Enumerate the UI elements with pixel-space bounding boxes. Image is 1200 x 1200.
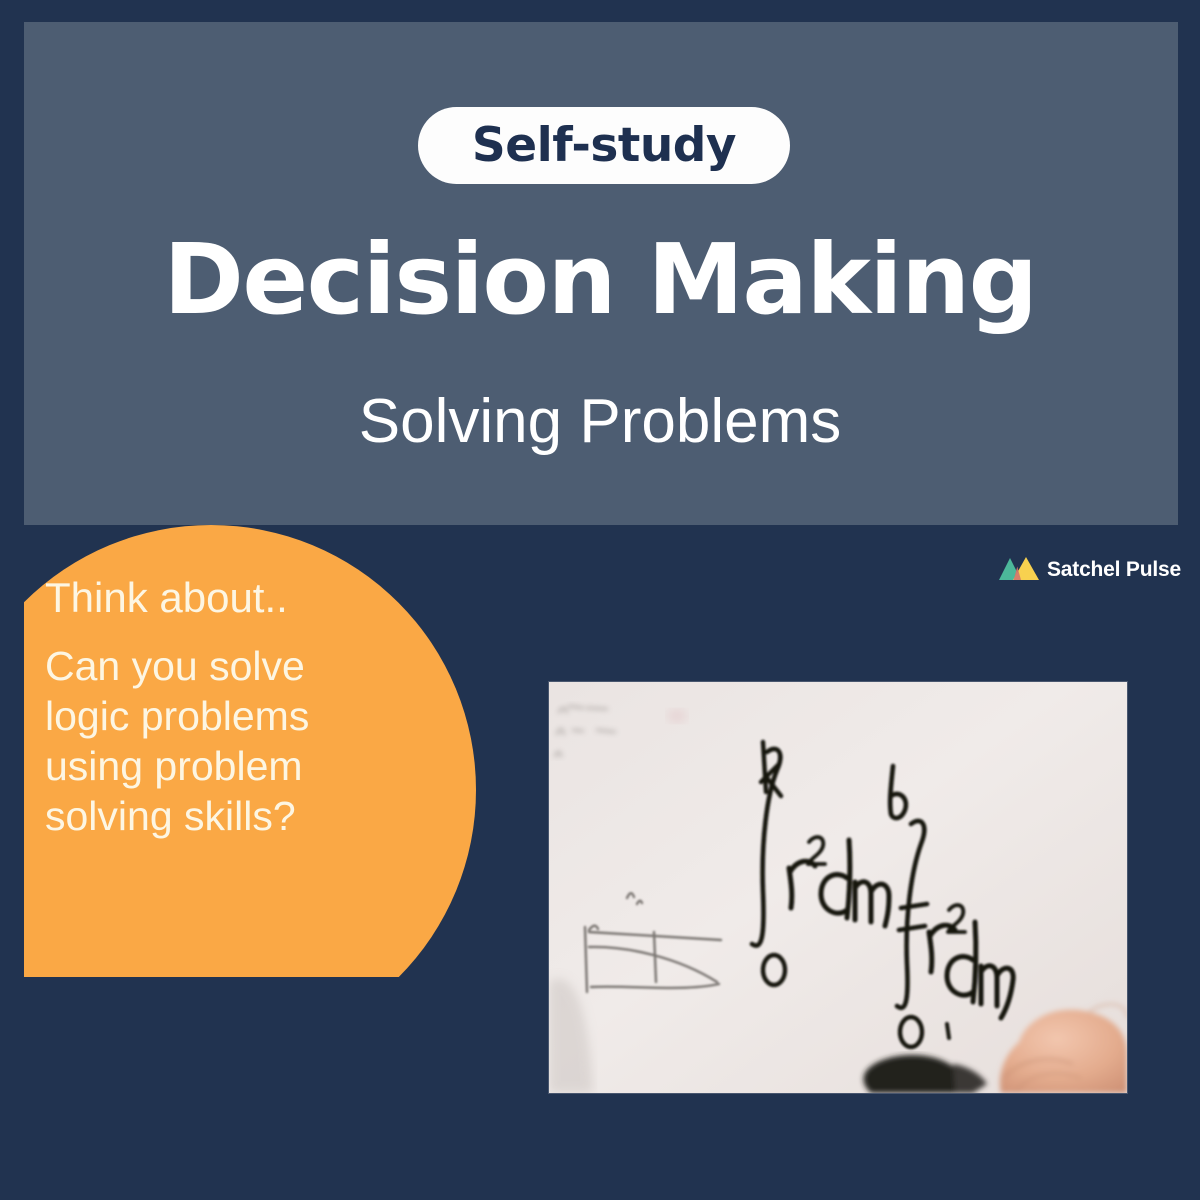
think-about-question: Can you solve logic problems using probl…: [45, 641, 365, 841]
think-about-block: Think about.. Can you solve logic proble…: [45, 575, 385, 841]
page-title: Decision Making: [0, 226, 1200, 335]
page-subtitle: Solving Problems: [0, 386, 1200, 457]
mountain-logo-icon: [998, 556, 1040, 582]
whiteboard-photo: [549, 682, 1127, 1093]
slide-canvas: Self-study Decision Making Solving Probl…: [0, 0, 1200, 1200]
brand-logo: Satchel Pulse: [998, 556, 1181, 582]
brand-logo-text: Satchel Pulse: [1047, 559, 1181, 580]
think-about-heading: Think about..: [45, 575, 385, 621]
whiteboard-photo-image: [549, 682, 1127, 1093]
self-study-badge: Self-study: [418, 107, 790, 184]
self-study-badge-label: Self-study: [472, 122, 736, 169]
